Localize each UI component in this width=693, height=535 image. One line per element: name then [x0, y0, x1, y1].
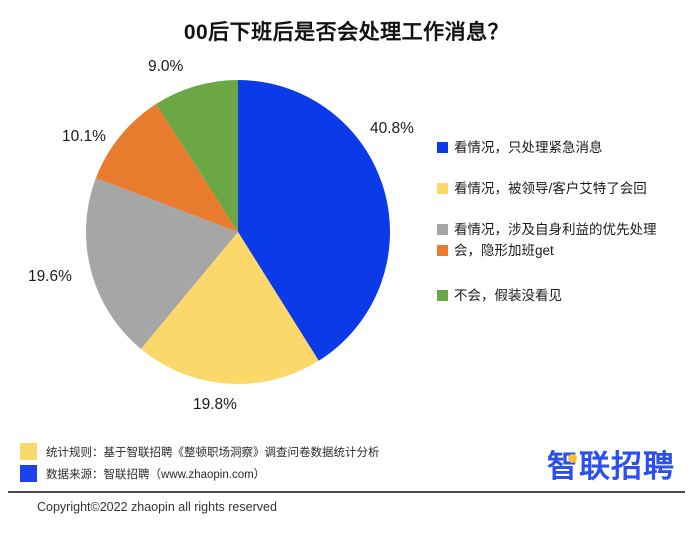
legend-swatch-icon-4 — [437, 290, 448, 301]
footer-note-row-0: 统计规则：基于智联招聘《整顿职场洞察》调查问卷数据统计分析 — [20, 443, 380, 460]
page-title: 00后下班后是否会处理工作消息？ — [0, 16, 693, 46]
legend-item-1[interactable]: 看情况，被领导/客户艾特了会回 — [437, 179, 689, 198]
footer-notes: 统计规则：基于智联招聘《整顿职场洞察》调查问卷数据统计分析 数据来源：智联招聘（… — [20, 443, 380, 487]
legend-label-1: 看情况，被领导/客户艾特了会回 — [454, 179, 647, 198]
note-swatch-icon-0 — [20, 443, 37, 460]
legend-swatch-icon-3 — [437, 245, 448, 256]
pie-value-label-2: 19.6% — [28, 268, 72, 286]
legend-item-3[interactable]: 会，隐形加班get — [437, 241, 689, 260]
legend-item-0[interactable]: 看情况，只处理紧急消息 — [437, 138, 689, 157]
brand-logo-text: 智联招聘 — [547, 449, 675, 484]
legend-item-4[interactable]: 不会，假装没看见 — [437, 286, 689, 305]
brand-logo: 智联招聘 — [547, 450, 675, 484]
pie-value-label-0: 40.8% — [370, 120, 414, 138]
legend-item-2[interactable]: 看情况，涉及自身利益的优先处理 — [437, 220, 689, 239]
footer-note-row-1: 数据来源：智联招聘（www.zhaopin.com） — [20, 465, 380, 482]
pie-chart-svg — [86, 80, 390, 384]
chart-legend: 看情况，只处理紧急消息 看情况，被领导/客户艾特了会回 看情况，涉及自身利益的优… — [437, 138, 689, 327]
legend-swatch-icon-0 — [437, 142, 448, 153]
legend-label-0: 看情况，只处理紧急消息 — [454, 138, 603, 157]
pie-value-label-1: 19.8% — [193, 396, 237, 414]
legend-label-2: 看情况，涉及自身利益的优先处理 — [454, 220, 657, 239]
pie-value-label-4: 9.0% — [148, 58, 183, 76]
legend-label-4: 不会，假装没看见 — [454, 286, 562, 305]
legend-swatch-icon-2 — [437, 224, 448, 235]
legend-swatch-icon-1 — [437, 183, 448, 194]
footer-note-text-1: 数据来源：智联招聘（www.zhaopin.com） — [46, 466, 265, 482]
footer-divider — [8, 491, 685, 493]
pie-chart — [86, 80, 390, 384]
pie-slice-group — [86, 80, 390, 384]
pie-value-label-3: 10.1% — [62, 128, 106, 146]
legend-label-3: 会，隐形加班get — [454, 241, 554, 260]
copyright-text: Copyright©2022 zhaopin all rights reserv… — [37, 500, 277, 514]
note-swatch-icon-1 — [20, 465, 37, 482]
logo-dot-icon — [568, 454, 577, 463]
footer-note-text-0: 统计规则：基于智联招聘《整顿职场洞察》调查问卷数据统计分析 — [46, 444, 380, 460]
